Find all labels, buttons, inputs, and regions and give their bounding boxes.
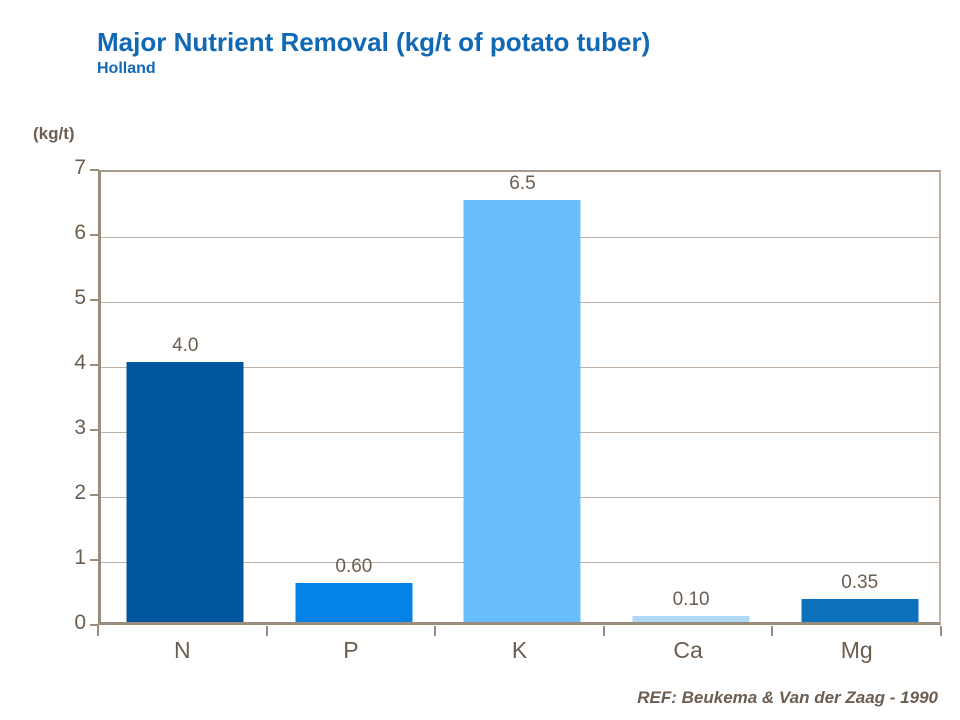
- page-subtitle: Holland: [97, 59, 650, 78]
- x-axis-tick-mark: [940, 626, 942, 636]
- bar[interactable]: [295, 583, 412, 622]
- page-title: Major Nutrient Removal (kg/t of potato t…: [97, 28, 650, 57]
- x-axis-tick-mark: [771, 626, 773, 636]
- x-axis-tick-mark: [266, 626, 268, 636]
- bar-slot: 0.10: [607, 172, 776, 622]
- bar-slot: 0.35: [775, 172, 944, 622]
- reference-note: REF: Beukema & Van der Zaag - 1990: [637, 688, 938, 708]
- x-axis-tick-mark: [603, 626, 605, 636]
- bar-slot: 0.60: [270, 172, 439, 622]
- x-axis-category-label: Ca: [604, 637, 773, 664]
- bar-value-label: 0.10: [673, 589, 710, 611]
- bar-series: 4.00.606.50.100.35: [101, 172, 939, 622]
- bar-value-label: 0.35: [841, 572, 878, 594]
- bar[interactable]: [633, 616, 750, 623]
- x-axis-category-label: Mg: [772, 637, 941, 664]
- bar-slot: 4.0: [101, 172, 270, 622]
- y-axis-tick-label: 4: [58, 351, 86, 375]
- y-axis-tick-label: 3: [58, 416, 86, 440]
- y-axis-unit-label: (kg/t): [33, 124, 75, 144]
- y-axis-tick-label: 2: [58, 481, 86, 505]
- bar-value-label: 4.0: [172, 335, 198, 357]
- bar-slot: 6.5: [438, 172, 607, 622]
- x-axis-category-label: K: [435, 637, 604, 664]
- y-axis-tick-label: 7: [58, 156, 86, 180]
- title-block: Major Nutrient Removal (kg/t of potato t…: [97, 28, 650, 78]
- bar[interactable]: [127, 362, 244, 622]
- bar[interactable]: [464, 200, 581, 623]
- y-axis-tick-label: 5: [58, 286, 86, 310]
- plot-area: 4.00.606.50.100.35: [98, 170, 941, 625]
- x-axis-tick-mark: [97, 626, 99, 636]
- x-axis-tick-mark: [434, 626, 436, 636]
- bar-value-label: 0.60: [335, 556, 372, 578]
- y-axis-tick-label: 0: [58, 611, 86, 635]
- bar-value-label: 6.5: [509, 173, 535, 195]
- bar[interactable]: [801, 599, 918, 622]
- y-axis-tick-label: 1: [58, 546, 86, 570]
- x-axis-category-label: N: [98, 637, 267, 664]
- x-axis-category-label: P: [267, 637, 436, 664]
- y-axis-tick-label: 6: [58, 221, 86, 245]
